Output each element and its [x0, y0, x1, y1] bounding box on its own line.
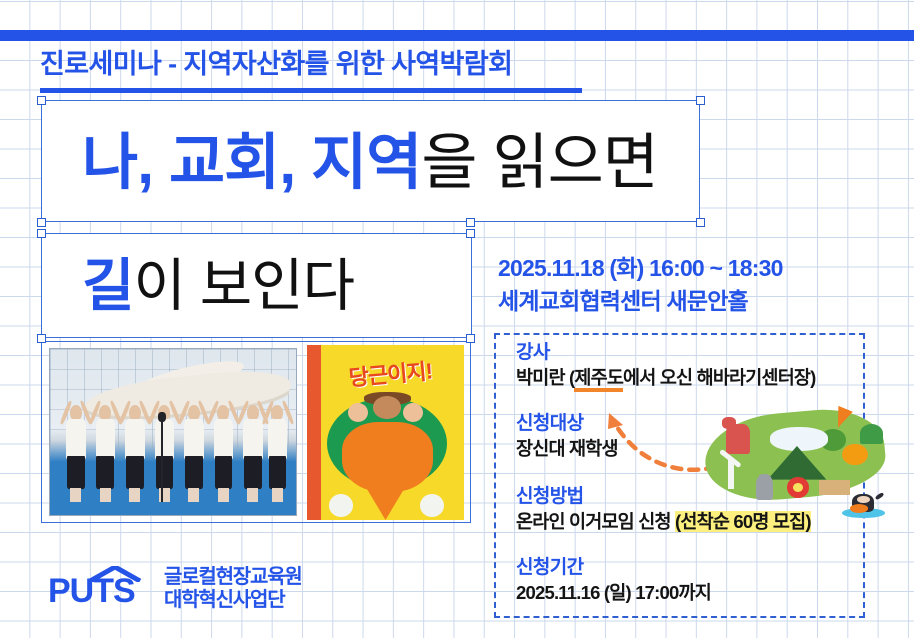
performer [212, 405, 234, 501]
detail-label: 신청기간 [516, 555, 896, 580]
headline-2-rest: 이 보인다 [133, 254, 354, 318]
hallasan-snow-cap [770, 427, 829, 451]
event-datetime: 2025.11.18 (화) 16:00 ~ 18:30 [498, 252, 888, 285]
selection-handle[interactable] [466, 334, 475, 343]
logo-line-2: 대학혁신사업단 [164, 589, 302, 612]
title-underline-rule [40, 88, 582, 93]
instructor-role: 에서 오신 해바라기센터장) [623, 367, 815, 388]
instructor-name: 박미란 ( [516, 367, 574, 388]
event-summary: 2025.11.18 (화) 16:00 ~ 18:30 세계교회협력센터 새문… [498, 252, 888, 318]
detail-group-instructor: 강사 박미란 (제주도에서 오신 해바라기센터장) [516, 340, 896, 391]
headline-2-emphasis: 길 [82, 254, 133, 318]
headline-box-2[interactable]: 길이 보인다 [41, 233, 472, 338]
detail-value: 2025.11.16 (일) 17:00까지 [516, 580, 896, 606]
jeju-island-illustration [697, 398, 893, 518]
book-farmer-face [373, 396, 401, 419]
detail-label: 강사 [516, 340, 896, 365]
tangerine-icon [842, 444, 867, 466]
page-title: 진로세미나 - 지역자산화를 위한 사역박람회 [40, 48, 640, 80]
palm-tree-icon [860, 424, 884, 443]
selection-handle[interactable] [696, 96, 705, 105]
horse-icon [726, 424, 750, 454]
choir-performance-photo[interactable] [49, 348, 297, 516]
selection-handle[interactable] [37, 218, 46, 227]
selection-handle[interactable] [466, 229, 475, 238]
selection-handle[interactable] [696, 218, 705, 227]
book-cover-image[interactable]: 당근이지! [307, 345, 464, 520]
detail-value: 박미란 (제주도에서 오신 해바라기센터장) [516, 365, 896, 391]
performer [65, 405, 87, 501]
logo-text-block: 글로컬현장교육원 대학혁신사업단 [164, 566, 302, 612]
book-carrot-bundle [342, 422, 433, 492]
selection-handle[interactable] [37, 96, 46, 105]
haenyeo-diver-icon [842, 489, 885, 518]
book-flower [329, 494, 353, 517]
performer [94, 405, 116, 501]
selection-handle[interactable] [37, 334, 46, 343]
book-spine [307, 345, 321, 520]
headline-1-rest: 을 읽으면 [421, 128, 657, 196]
book-child-left [348, 403, 368, 422]
performer [183, 405, 205, 501]
selection-handle[interactable] [466, 218, 475, 227]
headline-box-1[interactable]: 나, 교회, 지역을 읽으면 [41, 100, 700, 222]
performer [242, 405, 264, 501]
detail-group-period: 신청기간 2025.11.16 (일) 17:00까지 [516, 555, 896, 606]
top-accent-bar [0, 30, 914, 41]
performer [266, 405, 288, 501]
book-flower [420, 494, 444, 517]
headline-1-emphasis: 나, 교회, 지역 [82, 128, 421, 196]
instructor-origin-underlined: 제주도 [574, 367, 623, 392]
headline-text-1: 나, 교회, 지역을 읽으면 [82, 118, 658, 206]
logo-line-1: 글로컬현장교육원 [164, 566, 302, 589]
microphone-stand [161, 419, 163, 502]
windmill-icon [728, 460, 734, 489]
selection-handle[interactable] [37, 229, 46, 238]
performer [124, 405, 146, 501]
apply-method-text: 온라인 이거모임 신청 [516, 511, 675, 532]
puts-logo[interactable]: PUTS 글로컬현장교육원 대학혁신사업단 [48, 560, 298, 616]
book-child-right [403, 403, 423, 422]
event-venue: 세계교회협력센터 새문안홀 [498, 285, 888, 318]
headline-text-2: 길이 보인다 [82, 242, 354, 330]
dolhareubang-icon [756, 474, 774, 500]
logo-roof-icon [88, 566, 142, 582]
camellia-flower-icon [787, 477, 809, 497]
